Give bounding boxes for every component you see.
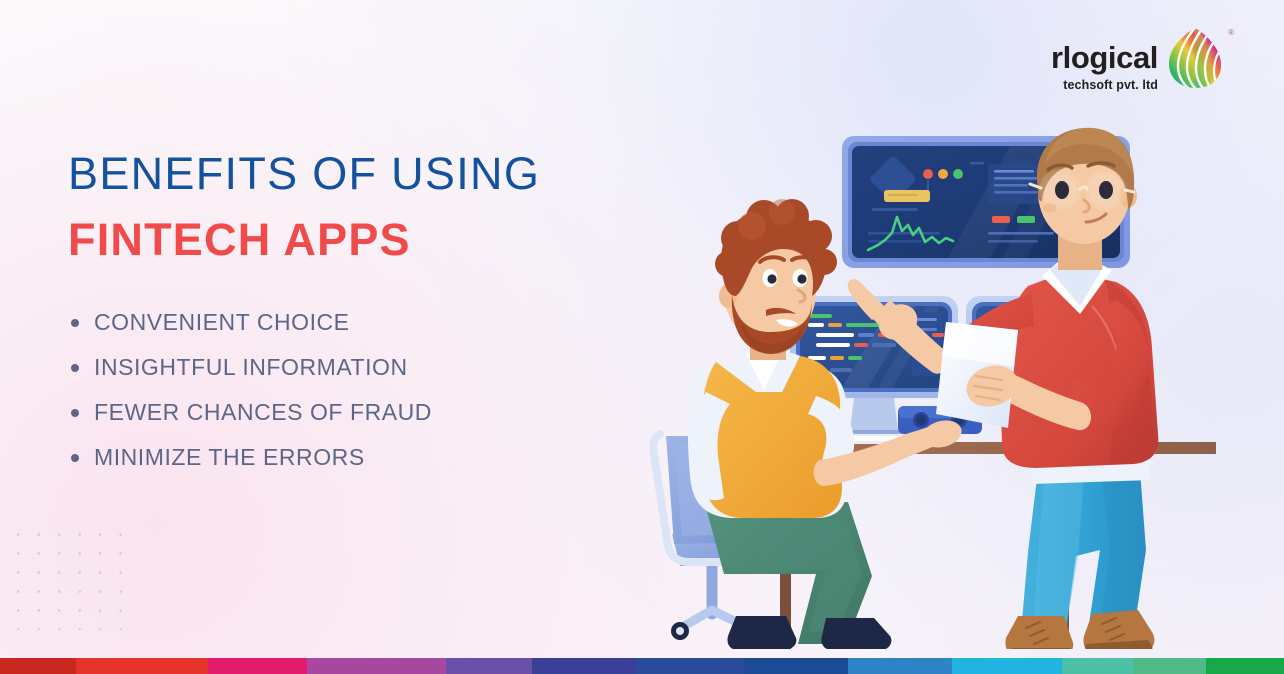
registered-trademark-icon: ® [1228, 28, 1234, 37]
strip-segment-10 [1062, 658, 1133, 674]
list-item: MINIMIZE THE ERRORS [68, 446, 668, 469]
strip-segment-1 [76, 658, 208, 674]
strip-segment-2 [208, 658, 308, 674]
rainbow-color-strip [0, 658, 1284, 674]
strip-segment-12 [1206, 658, 1284, 674]
logo-wordmark: rlogical [1051, 42, 1158, 73]
strip-segment-11 [1133, 658, 1206, 674]
bullet-dot-icon [71, 364, 79, 372]
list-item-label: MINIMIZE THE ERRORS [94, 444, 365, 470]
strip-segment-5 [532, 658, 636, 674]
strip-segment-3 [307, 658, 445, 674]
strip-segment-6 [636, 658, 744, 674]
list-item: CONVENIENT CHOICE [68, 311, 668, 334]
list-item: FEWER CHANCES OF FRAUD [68, 401, 668, 424]
bullet-dot-icon [71, 319, 79, 327]
strip-segment-7 [744, 658, 848, 674]
logo-tagline: techsoft pvt. ltd [1051, 79, 1158, 92]
rlogical-leaf-logo-icon: ® [1164, 26, 1226, 90]
strip-segment-8 [848, 658, 952, 674]
list-item-label: CONVENIENT CHOICE [94, 309, 350, 335]
company-logo[interactable]: rlogical techsoft pvt. ltd [1051, 26, 1226, 92]
strip-segment-4 [446, 658, 533, 674]
list-item-label: INSIGHTFUL INFORMATION [94, 354, 408, 380]
bullet-dot-icon [71, 409, 79, 417]
strip-segment-9 [952, 658, 1063, 674]
logo-text: rlogical techsoft pvt. ltd [1051, 26, 1158, 92]
list-item: INSIGHTFUL INFORMATION [68, 356, 668, 379]
text-content-block: BENEFITS OF USING FINTECH APPS CONVENIEN… [68, 150, 668, 491]
benefits-list: CONVENIENT CHOICE INSIGHTFUL INFORMATION… [68, 311, 668, 469]
list-item-label: FEWER CHANCES OF FRAUD [94, 399, 432, 425]
page-title-line-2: FINTECH APPS [68, 216, 668, 264]
fintech-benefits-banner: BENEFITS OF USING FINTECH APPS CONVENIEN… [0, 0, 1284, 674]
fintech-team-illustration [640, 104, 1260, 649]
page-title-line-1: BENEFITS OF USING [68, 150, 668, 198]
bullet-dot-icon [71, 454, 79, 462]
strip-segment-0 [0, 658, 76, 674]
decorative-dot-grid [8, 525, 136, 630]
